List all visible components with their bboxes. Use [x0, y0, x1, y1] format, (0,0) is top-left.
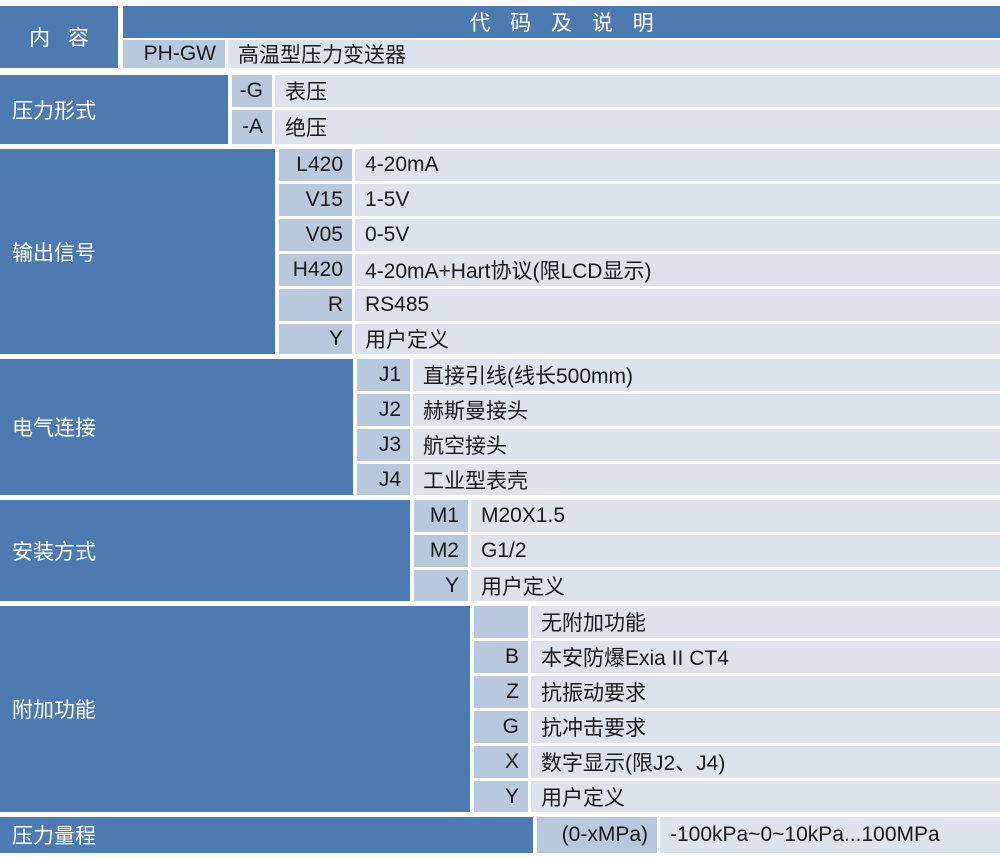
section-label-pressure-type: 压力形式: [0, 75, 228, 144]
code-cell: Y: [414, 570, 468, 601]
desc-cell: 0-5V: [355, 219, 1000, 251]
desc-cell: 4-20mA: [355, 149, 1000, 181]
header-content-label: 内 容: [0, 6, 118, 68]
desc-cell: 1-5V: [355, 184, 1000, 216]
code-cell: B: [474, 641, 528, 673]
section-label-pressure-range: 压力量程: [0, 817, 533, 853]
section-label-additional-function: 附加功能: [0, 606, 470, 812]
code-cell: -A: [232, 110, 272, 144]
code-cell: V15: [279, 184, 352, 216]
code-cell: L420: [279, 149, 352, 181]
desc-cell: M20X1.5: [471, 500, 1000, 532]
model-desc-cell: 高温型压力变送器: [228, 40, 1000, 68]
desc-cell: 表压: [275, 75, 1000, 107]
section-label-output-signal: 输出信号: [0, 149, 275, 354]
code-cell: H420: [279, 254, 352, 286]
section-label-mounting-type: 安装方式: [0, 500, 410, 601]
desc-cell: 4-20mA+Hart协议(限LCD显示): [355, 254, 1000, 286]
code-cell: M1: [414, 500, 468, 532]
code-cell: Y: [474, 781, 528, 812]
code-cell: Z: [474, 676, 528, 708]
code-cell: G: [474, 711, 528, 743]
desc-cell: 抗冲击要求: [531, 711, 1000, 743]
model-code-cell: PH-GW: [123, 40, 225, 68]
code-cell: J4: [357, 464, 410, 495]
code-cell: V05: [279, 219, 352, 251]
code-cell: X: [474, 746, 528, 778]
desc-cell: 直接引线(线长500mm): [413, 359, 1000, 391]
desc-cell: RS485: [355, 289, 1000, 321]
code-cell: R: [279, 289, 352, 321]
desc-cell: 航空接头: [413, 429, 1000, 461]
desc-cell: 用户定义: [355, 324, 1000, 354]
desc-cell: 用户定义: [531, 781, 1000, 812]
desc-cell: 工业型表壳: [413, 464, 1000, 495]
desc-cell: 抗振动要求: [531, 676, 1000, 708]
code-cell: J1: [357, 359, 410, 391]
header-code-title: 代 码 及 说 明: [123, 6, 1000, 38]
code-cell: Y: [279, 324, 352, 354]
desc-cell: 赫斯曼接头: [413, 394, 1000, 426]
desc-cell: 绝压: [275, 110, 1000, 144]
desc-cell: 本安防爆Exia II CT4: [531, 641, 1000, 673]
code-cell: M2: [414, 535, 468, 567]
code-cell: [474, 606, 528, 638]
code-cell: J3: [357, 429, 410, 461]
code-cell: (0-xMPa): [537, 817, 657, 853]
desc-cell: 用户定义: [471, 570, 1000, 601]
desc-cell: G1/2: [471, 535, 1000, 567]
desc-cell: -100kPa~0~10kPa...100MPa: [660, 817, 1000, 853]
code-cell: J2: [357, 394, 410, 426]
section-label-electrical-connection: 电气连接: [0, 359, 353, 495]
desc-cell: 数字显示(限J2、J4): [531, 746, 1000, 778]
code-cell: -G: [232, 75, 272, 107]
product-code-selection-table: 内 容 代 码 及 说 明 PH-GW 高温型压力变送器 压力形式 -G 表压 …: [0, 0, 1000, 858]
desc-cell: 无附加功能: [531, 606, 1000, 638]
